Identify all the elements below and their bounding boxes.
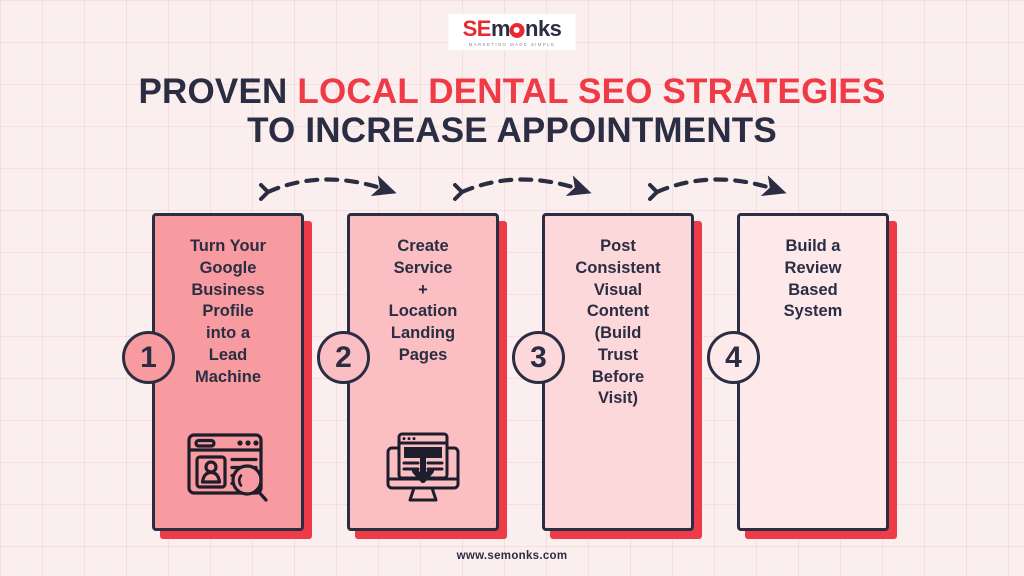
card-2-text: Create Service + Location Landing Pages: [389, 236, 458, 367]
business-profile-search-icon: [186, 431, 270, 510]
logo-text-se: SE: [463, 16, 491, 41]
card-1-body[interactable]: Turn Your Google Business Profile into a…: [152, 213, 304, 531]
infographic-page: SEmnks MARKETING MADE SIMPLE PROVEN LOCA…: [0, 0, 1024, 576]
step-card-3[interactable]: Post Consistent Visual Content (Build Tr…: [542, 213, 694, 535]
card-4-number-badge: 4: [707, 331, 760, 384]
arrow-step1-to-step2: [261, 179, 387, 199]
brand-logo: SEmnks MARKETING MADE SIMPLE: [449, 14, 576, 50]
landing-page-download-icon: [384, 431, 462, 510]
card-3-text: Post Consistent Visual Content (Build Tr…: [575, 236, 660, 410]
logo-monk-o-icon: [510, 23, 525, 38]
card-2-number-badge: 2: [317, 331, 370, 384]
step-card-2[interactable]: Create Service + Location Landing Pages: [347, 213, 499, 535]
footer-website-url[interactable]: www.semonks.com: [0, 550, 1024, 562]
steps-row: Turn Your Google Business Profile into a…: [0, 213, 1024, 538]
card-2-body[interactable]: Create Service + Location Landing Pages: [347, 213, 499, 531]
title-red-part: LOCAL DENTAL SEO STRATEGIES: [297, 72, 885, 111]
card-1-text: Turn Your Google Business Profile into a…: [190, 236, 266, 388]
step-card-1[interactable]: Turn Your Google Business Profile into a…: [152, 213, 304, 535]
card-3-number-badge: 3: [512, 331, 565, 384]
arrow-step3-to-step4: [650, 179, 777, 199]
card-3-body[interactable]: Post Consistent Visual Content (Build Tr…: [542, 213, 694, 531]
title-line-2: TO INCREASE APPOINTMENTS: [247, 111, 777, 150]
card-4-text: Build a Review Based System: [784, 236, 843, 323]
page-title: PROVEN LOCAL DENTAL SEO STRATEGIES TO IN…: [0, 72, 1024, 150]
logo-text-nks: nks: [525, 16, 561, 41]
title-line-1: PROVEN LOCAL DENTAL SEO STRATEGIES: [138, 72, 885, 111]
card-4-body[interactable]: Build a Review Based System: [737, 213, 889, 531]
card-1-number-badge: 1: [122, 331, 175, 384]
arrow-step2-to-step3: [455, 179, 582, 199]
logo-text-m: m: [491, 16, 510, 41]
title-dark-part: PROVEN: [138, 72, 297, 111]
step-card-4[interactable]: Build a Review Based System 4: [737, 213, 889, 535]
logo-wordmark: SEmnks: [463, 18, 562, 40]
logo-tagline: MARKETING MADE SIMPLE: [463, 43, 562, 47]
